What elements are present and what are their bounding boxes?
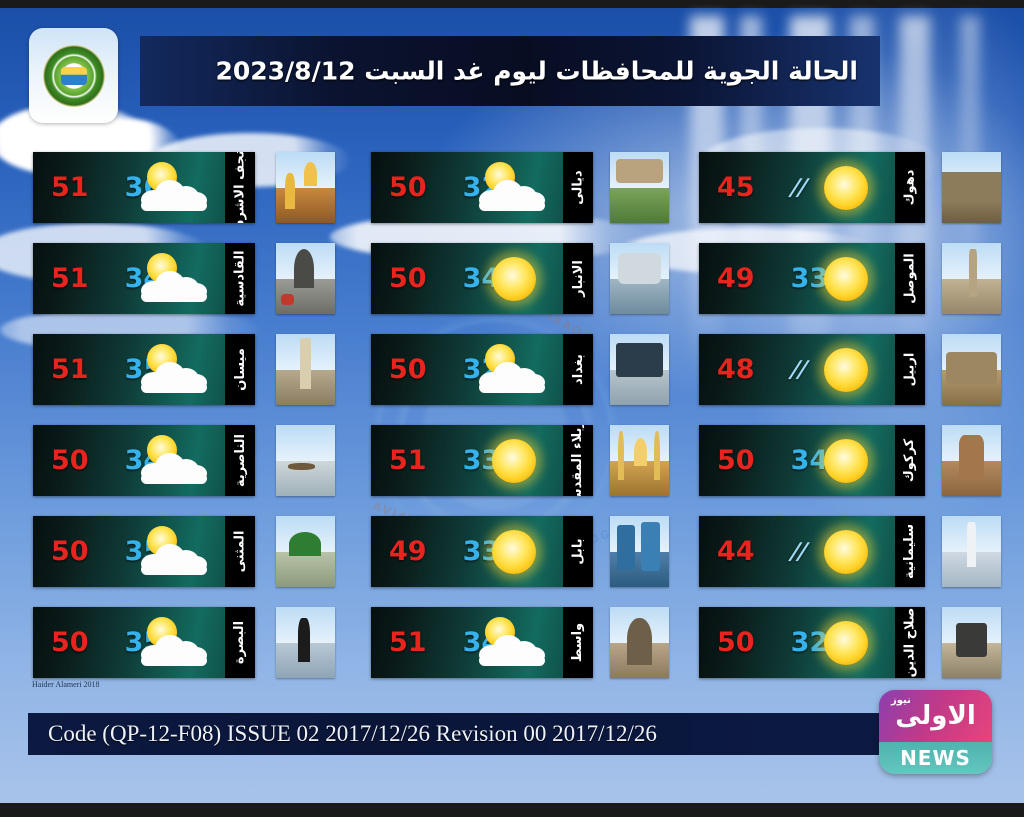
photo-landmark-shape	[304, 162, 317, 186]
temp-max: 44	[717, 536, 755, 567]
sunny-icon	[807, 615, 881, 671]
partly-cloudy-icon	[137, 342, 211, 398]
cloud-puff	[141, 655, 207, 666]
governorate-name: واسط	[571, 623, 586, 662]
sunny-icon	[807, 251, 881, 307]
city-photo-stone-arch-gate	[610, 607, 669, 678]
photo-landmark-shape	[300, 338, 312, 389]
forecast-card[interactable]: 48//اربيل	[699, 334, 925, 405]
forecast-card[interactable]: 5134واسط	[371, 607, 593, 678]
governorate-name: الناصرية	[233, 434, 248, 487]
title-bar: الحالة الجوية للمحافظات ليوم غد السبت 20…	[140, 36, 880, 106]
photo-landmark-shape	[281, 294, 294, 305]
photo-landmark-shape	[618, 253, 660, 284]
temp-max: 50	[717, 445, 755, 476]
governorate-name: الموصل	[903, 253, 918, 303]
photo-landmark-shape	[294, 249, 314, 289]
forecast-card[interactable]: 5134القادسية	[33, 243, 255, 314]
photo-landmark-shape	[285, 173, 294, 209]
photo-landmark-shape	[959, 435, 985, 479]
partly-cloudy-icon	[137, 251, 211, 307]
forecast-card[interactable]: 45//دهوك	[699, 152, 925, 223]
partly-cloudy-icon	[475, 615, 549, 671]
forecast-card[interactable]: 5032بغداد	[371, 334, 593, 405]
forecast-card[interactable]: 5136النجف الاشرف	[33, 152, 255, 223]
sun-disc	[824, 166, 868, 210]
governorate-label: البصرة	[225, 607, 255, 678]
temp-max: 51	[389, 445, 427, 476]
photo-landmark-shape	[942, 172, 1001, 202]
governorate-name: القادسية	[233, 250, 248, 306]
photo-landmark-shape	[967, 522, 976, 567]
governorate-name: النجف الاشرف	[233, 152, 248, 223]
city-photo-leaning-minaret	[942, 243, 1001, 314]
cloud-shape	[139, 631, 209, 665]
sun-disc	[824, 530, 868, 574]
sunny-icon	[807, 524, 881, 580]
sun-disc	[824, 621, 868, 665]
forecast-card[interactable]: 5032صلاح الدين	[699, 607, 925, 678]
sun-disc	[824, 257, 868, 301]
governorate-name: بابل	[571, 538, 586, 564]
governorate-name: كربلاء المقدسة	[571, 425, 586, 496]
photo-landmark-shape	[616, 159, 663, 183]
governorate-label: الموصل	[895, 243, 925, 314]
logo-ring	[43, 45, 105, 107]
forecast-card[interactable]: 5032ديالى	[371, 152, 593, 223]
governorate-name: اربيل	[903, 353, 918, 387]
city-photo-green-arch-monument	[276, 516, 335, 587]
photo-landmark-shape	[289, 532, 321, 556]
city-photo-monument-arch-street	[276, 243, 335, 314]
governorate-label: صلاح الدين	[895, 607, 925, 678]
cloud-puff	[479, 382, 545, 393]
cloud-shape	[139, 267, 209, 301]
forecast-card[interactable]: 5133كربلاء المقدسة	[371, 425, 593, 496]
cloud-sun-emblem	[61, 67, 87, 85]
governorate-name: ديالى	[571, 170, 586, 204]
photo-landmark-shape	[641, 522, 660, 572]
forecast-card[interactable]: 5034الانبار	[371, 243, 593, 314]
news-logo-top: نيوز الاولى	[879, 690, 992, 742]
temp-max: 45	[717, 172, 755, 203]
city-photo-dam-waterfall	[610, 243, 669, 314]
forecast-card[interactable]: 5035البصرة	[33, 607, 255, 678]
city-photo-shrine-gold-dome	[276, 152, 335, 223]
cloud-puff	[141, 564, 207, 575]
photo-landmark-shape	[627, 618, 653, 665]
governorate-label: الناصرية	[225, 425, 255, 496]
temp-max: 49	[717, 263, 755, 294]
temp-max: 51	[51, 172, 89, 203]
cloud-shape	[139, 540, 209, 574]
photo-landmark-shape	[617, 525, 635, 570]
partly-cloudy-icon	[137, 524, 211, 580]
temp-max: 50	[389, 354, 427, 385]
author-signature: Haider Alameri 2018	[32, 680, 100, 689]
photo-landmark-shape	[288, 463, 315, 470]
photo-landmark-shape	[956, 623, 987, 657]
cloud-shape	[139, 176, 209, 210]
photo-landmark-shape	[946, 352, 998, 383]
governorate-name: سليمانية	[903, 524, 918, 579]
news-logo-bottom: NEWS	[879, 742, 992, 774]
sun-disc	[492, 530, 536, 574]
sunny-icon	[807, 342, 881, 398]
footer-bar: Code (QP-12-F08) ISSUE 02 2017/12/26 Rev…	[28, 713, 900, 755]
meteorology-logo	[29, 28, 118, 123]
partly-cloudy-icon	[137, 160, 211, 216]
city-photo-shrine-minarets	[610, 425, 669, 496]
city-photo-river-boat	[276, 425, 335, 496]
governorate-label: ميسان	[225, 334, 255, 405]
temp-max: 48	[717, 354, 755, 385]
weather-infographic: REPUBLIC OF IRAQ AVIATION & METEOROLOGY …	[0, 0, 1024, 817]
forecast-card[interactable]: 5034كركوك	[699, 425, 925, 496]
sun-disc	[824, 348, 868, 392]
governorate-label: سليمانية	[895, 516, 925, 587]
cloud-shape	[139, 449, 209, 483]
temp-max: 50	[51, 536, 89, 567]
temp-max: 50	[717, 627, 755, 658]
temperature-group: 44//	[717, 516, 805, 587]
temp-max: 50	[389, 263, 427, 294]
governorate-label: بابل	[563, 516, 593, 587]
forecast-card[interactable]: 4933الموصل	[699, 243, 925, 314]
news-logo-english: NEWS	[900, 746, 971, 770]
temperature-group: 45//	[717, 152, 805, 223]
city-photo-citadel-ruins	[942, 334, 1001, 405]
temp-max: 50	[51, 445, 89, 476]
governorate-name: المثنى	[233, 531, 248, 573]
governorate-name: الانبار	[571, 260, 586, 297]
city-photo-mountain-cliffs	[942, 152, 1001, 223]
photo-landmark-shape	[618, 431, 624, 481]
photo-landmark-shape	[634, 438, 647, 466]
temp-max: 51	[51, 354, 89, 385]
governorate-label: دهوك	[895, 152, 925, 223]
governorate-name: ميسان	[233, 348, 248, 391]
governorate-label: النجف الاشرف	[225, 152, 255, 223]
cloud-puff	[141, 200, 207, 211]
photo-landmark-shape	[616, 343, 663, 377]
sun-disc	[492, 257, 536, 301]
governorate-label: واسط	[563, 607, 593, 678]
city-photo-brick-mausoleum	[942, 425, 1001, 496]
top-letterbox	[0, 0, 1024, 8]
cloud-puff	[479, 200, 545, 211]
cloud-shape	[139, 358, 209, 392]
news-logo-arabic: الاولى	[895, 703, 976, 729]
forecast-card[interactable]: 4933بابل	[371, 516, 593, 587]
page-title: الحالة الجوية للمحافظات ليوم غد السبت 20…	[215, 57, 858, 86]
partly-cloudy-icon	[475, 160, 549, 216]
city-photo-blue-towers	[610, 516, 669, 587]
governorate-name: بغداد	[571, 354, 586, 385]
partly-cloudy-icon	[137, 615, 211, 671]
document-code: Code (QP-12-F08) ISSUE 02 2017/12/26 Rev…	[28, 721, 657, 747]
news-channel-logo[interactable]: نيوز الاولى NEWS	[879, 690, 992, 774]
city-photo-city-building	[610, 334, 669, 405]
temp-max: 51	[51, 263, 89, 294]
cloud-puff	[141, 382, 207, 393]
cloud-puff	[479, 655, 545, 666]
forecast-card[interactable]: 44//سليمانية	[699, 516, 925, 587]
sunny-icon	[807, 160, 881, 216]
photo-landmark-shape	[298, 618, 310, 662]
cloud-shape	[477, 358, 547, 392]
temp-max: 49	[389, 536, 427, 567]
sunny-icon	[475, 251, 549, 307]
forecast-card[interactable]: 5135ميسان	[33, 334, 255, 405]
city-photo-horse-statue	[942, 607, 1001, 678]
temp-max: 50	[51, 627, 89, 658]
photo-landmark-shape	[969, 249, 977, 297]
governorate-name: دهوك	[903, 170, 918, 206]
forecast-card[interactable]: 5035المثنى	[33, 516, 255, 587]
temp-max: 51	[389, 627, 427, 658]
photo-ground	[610, 188, 669, 224]
governorate-name: كركوك	[903, 439, 918, 482]
sun-disc	[824, 439, 868, 483]
governorate-label: كركوك	[895, 425, 925, 496]
city-photo-park-colonnade	[610, 152, 669, 223]
partly-cloudy-icon	[475, 342, 549, 398]
governorate-name: البصرة	[233, 621, 248, 664]
cloud-puff	[141, 473, 207, 484]
news-logo-superscript: نيوز	[891, 695, 911, 706]
governorate-label: الانبار	[563, 243, 593, 314]
city-photo-clock-tower	[276, 334, 335, 405]
cloud-shape	[477, 631, 547, 665]
governorate-label: المثنى	[225, 516, 255, 587]
governorate-label: بغداد	[563, 334, 593, 405]
governorate-name: صلاح الدين	[903, 608, 918, 678]
city-photo-statue-silhouette	[276, 607, 335, 678]
sunny-icon	[475, 433, 549, 489]
photo-landmark-shape	[654, 431, 660, 481]
partly-cloudy-icon	[137, 433, 211, 489]
sunny-icon	[807, 433, 881, 489]
sun-disc	[492, 439, 536, 483]
bottom-letterbox	[0, 803, 1024, 817]
sunny-icon	[475, 524, 549, 580]
city-photo-white-tower-bridge	[942, 516, 1001, 587]
governorate-label: ديالى	[563, 152, 593, 223]
photo-ground	[276, 552, 335, 588]
temp-max: 50	[389, 172, 427, 203]
governorate-label: القادسية	[225, 243, 255, 314]
cloud-puff	[141, 291, 207, 302]
photo-sky	[276, 425, 335, 462]
governorate-label: كربلاء المقدسة	[563, 425, 593, 496]
cloud-shape	[477, 176, 547, 210]
forecast-card[interactable]: 5034الناصرية	[33, 425, 255, 496]
temperature-group: 48//	[717, 334, 805, 405]
governorate-label: اربيل	[895, 334, 925, 405]
